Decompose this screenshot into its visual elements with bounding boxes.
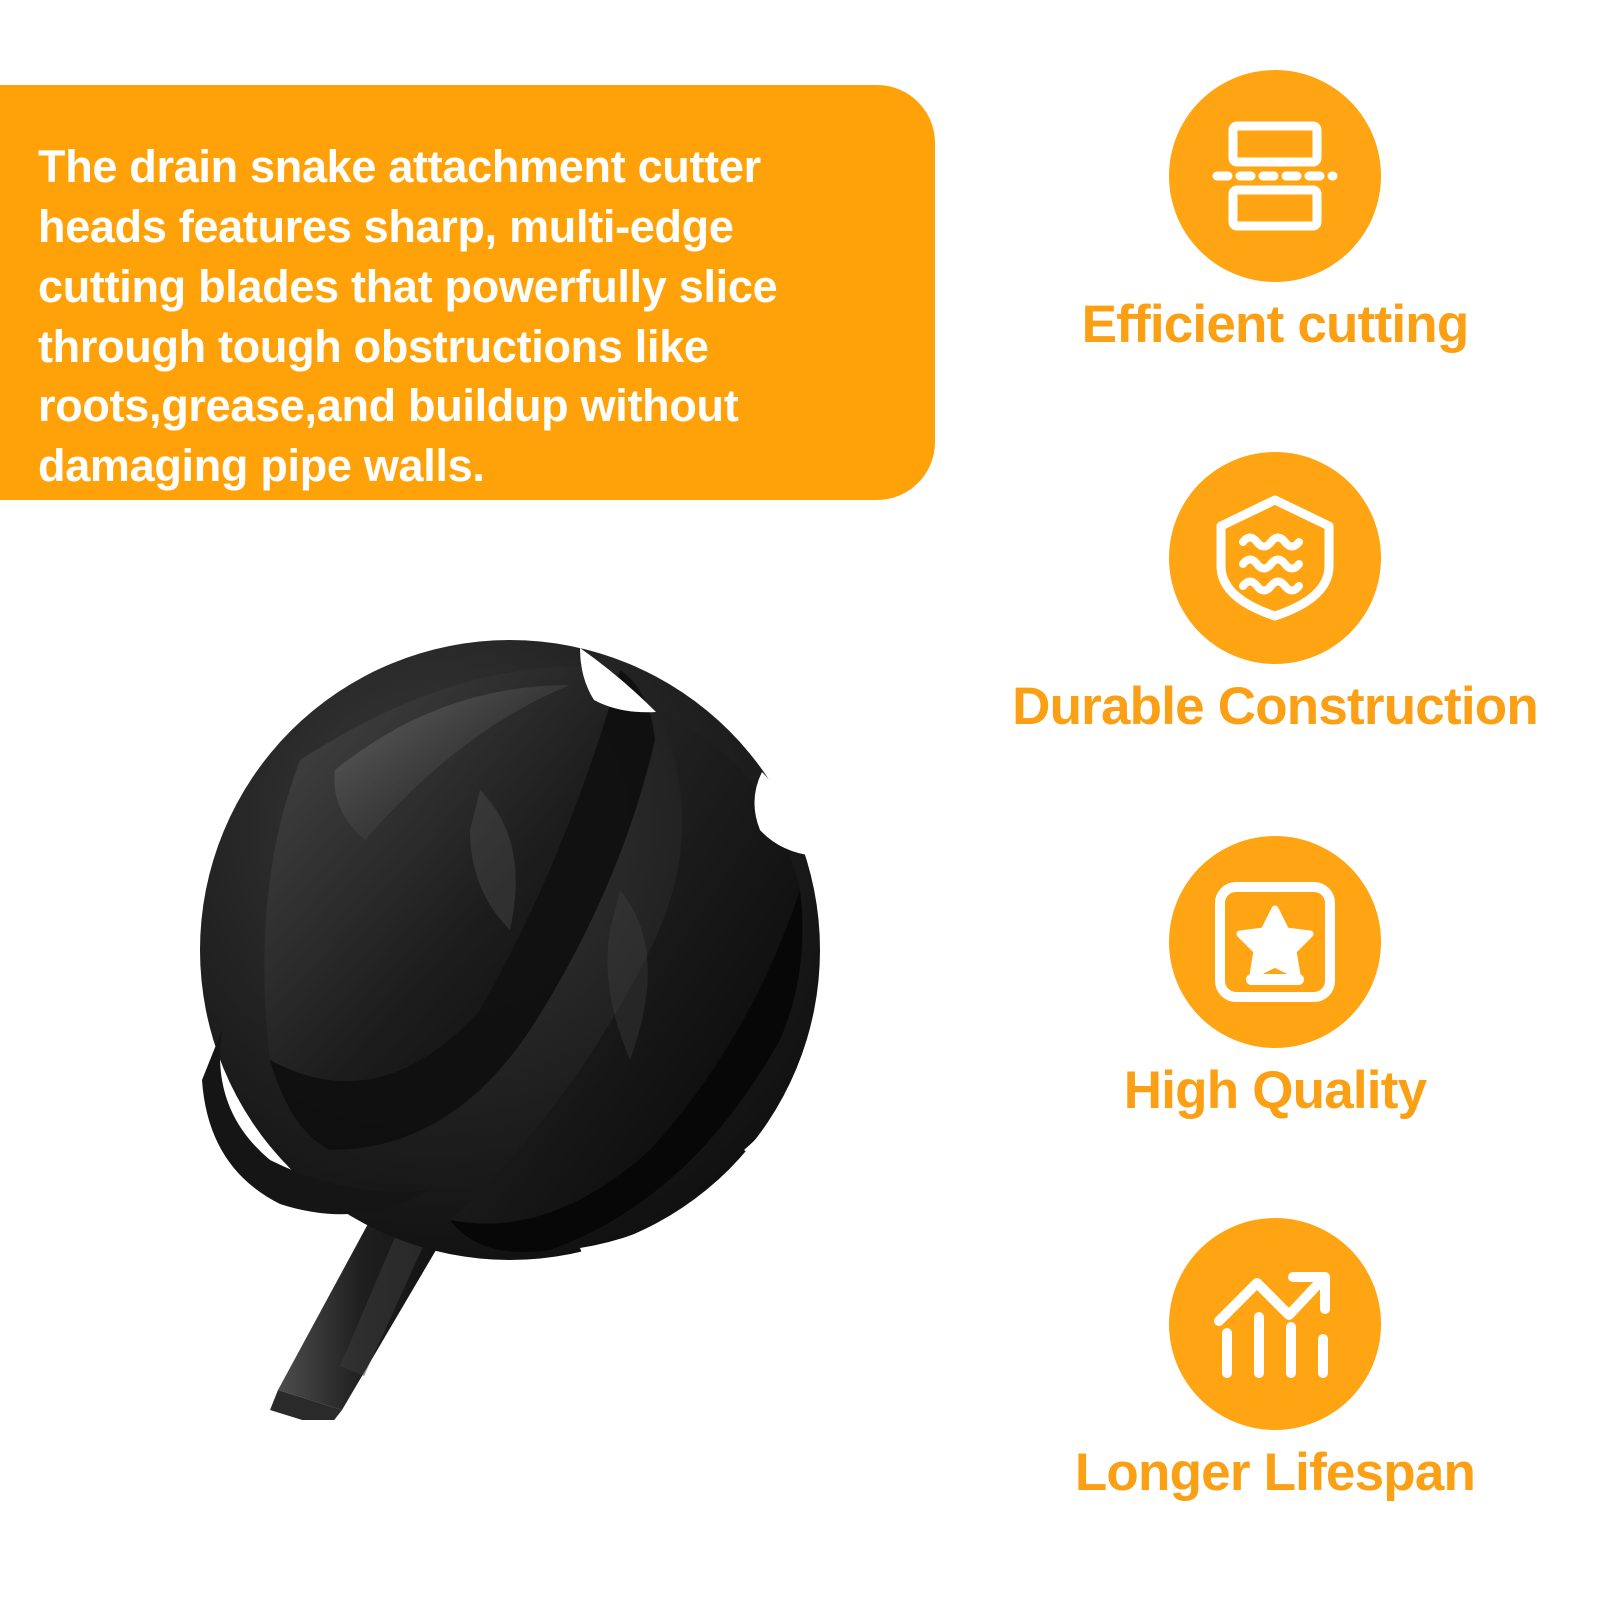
- feature-label: High Quality: [950, 1062, 1600, 1120]
- feature-item-durable-construction: Durable Construction: [950, 452, 1600, 736]
- feature-icon-badge: [1169, 70, 1381, 282]
- feature-label: Longer Lifespan: [950, 1444, 1600, 1502]
- feature-label: Efficient cutting: [950, 296, 1600, 354]
- description-text: The drain snake attachment cutter heads …: [38, 137, 887, 496]
- feature-item-longer-lifespan: Longer Lifespan: [950, 1218, 1600, 1502]
- feature-list: Efficient cutting Durable Construction: [950, 60, 1600, 1600]
- feature-label: Durable Construction: [950, 678, 1600, 736]
- cut-separation-icon: [1211, 112, 1339, 240]
- product-image: [150, 590, 870, 1420]
- feature-icon-badge: [1169, 1218, 1381, 1430]
- feature-item-high-quality: High Quality: [950, 836, 1600, 1120]
- feature-icon-badge: [1169, 836, 1381, 1048]
- growth-chart-icon: [1209, 1261, 1341, 1387]
- description-callout: The drain snake attachment cutter heads …: [0, 85, 935, 500]
- feature-icon-badge: [1169, 452, 1381, 664]
- feature-item-efficient-cutting: Efficient cutting: [950, 70, 1600, 354]
- star-certificate-icon: [1212, 879, 1338, 1005]
- product-cutter-ball: [200, 640, 820, 1268]
- shield-layers-icon: [1209, 492, 1341, 624]
